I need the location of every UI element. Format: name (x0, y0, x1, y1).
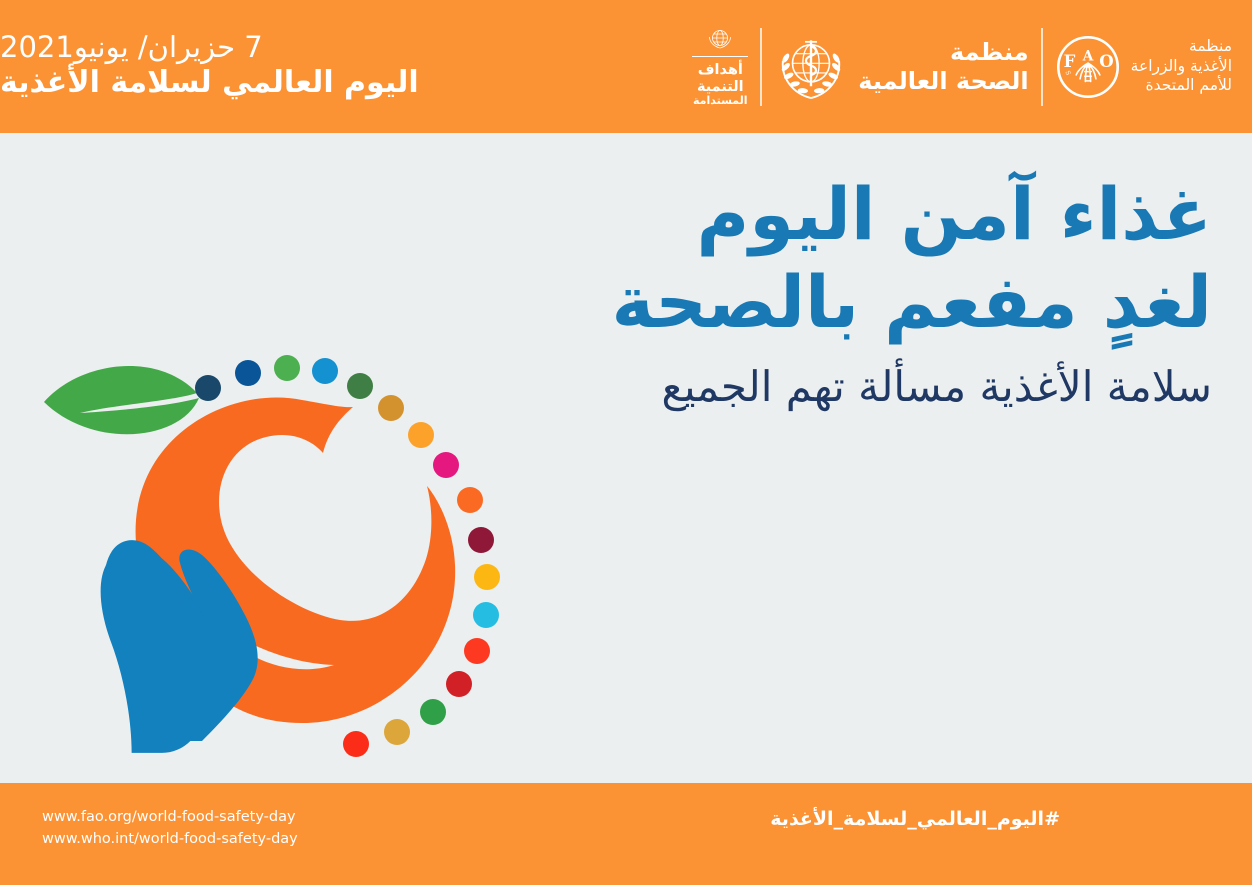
who-text-line2: الصحة العالمية (858, 67, 1028, 96)
fao-logo-text: منظمة الأغذية والزراعة للأمم المتحدة (1131, 37, 1232, 96)
fao-website-link[interactable]: www.fao.org/world-food-safety-day (42, 807, 298, 829)
sdg-text-line2: التنمية (693, 79, 748, 95)
poster-canvas: 7 حزيران/ يونيو2021 اليوم العالمي لسلامة… (0, 0, 1252, 885)
sdg-dot (468, 527, 494, 553)
headline-line-2: لغدٍ مفعم بالصحة (512, 259, 1212, 347)
header-bar: 7 حزيران/ يونيو2021 اليوم العالمي لسلامة… (0, 0, 1252, 133)
sdg-dot (312, 358, 338, 384)
svg-text:O: O (1099, 52, 1113, 71)
fao-text-line1: منظمة (1131, 37, 1232, 57)
sdg-dot (195, 375, 221, 401)
sdg-dot (433, 452, 459, 478)
header-left-text: 7 حزيران/ يونيو2021 اليوم العالمي لسلامة… (0, 0, 440, 133)
event-title: اليوم العالمي لسلامة الأغذية (0, 64, 419, 102)
sdg-dot (457, 487, 483, 513)
sdg-dot (464, 638, 490, 664)
subheadline: سلامة الأغذية مسألة تهم الجميع (512, 361, 1212, 414)
who-logo: منظمة الصحة العالمية (762, 19, 1040, 115)
svg-text:F: F (1063, 52, 1075, 71)
sdg-logo: أهداف التنمية المستدامة (680, 19, 760, 115)
footer-links: www.fao.org/world-food-safety-day www.wh… (42, 807, 298, 851)
sdg-dot (274, 355, 300, 381)
logo-divider-1 (1041, 28, 1043, 106)
sdg-dot (384, 719, 410, 745)
sdg-dot (347, 373, 373, 399)
sdg-dot (474, 564, 500, 590)
who-website-link[interactable]: www.who.int/world-food-safety-day (42, 829, 298, 851)
who-logo-text: منظمة الصحة العالمية (858, 38, 1028, 96)
fao-text-line3: للأمم المتحدة (1131, 76, 1232, 96)
footer-bar: www.fao.org/world-food-safety-day www.wh… (0, 783, 1252, 885)
world-food-safety-day-emblem (40, 345, 520, 760)
fao-logo: منظمة الأغذية والزراعة للأمم المتحدة F A… (1043, 19, 1244, 115)
sdg-dot (343, 731, 369, 757)
sdg-dot (408, 422, 434, 448)
header-logo-group: منظمة الأغذية والزراعة للأمم المتحدة F A… (680, 0, 1244, 133)
leaf-icon (44, 366, 199, 434)
sdg-text-line1: أهداف (693, 62, 748, 78)
fao-emblem-icon: F A O FIAT PANIS (1055, 34, 1121, 100)
headline-line-1: غذاء آمن اليوم (512, 171, 1212, 259)
sdg-text-line3: المستدامة (693, 95, 748, 107)
sdg-dot (420, 699, 446, 725)
sdg-divider-rule (692, 56, 748, 58)
sdg-dot (473, 602, 499, 628)
event-date: 7 حزيران/ يونيو2021 (0, 32, 263, 62)
logo-divider-2 (760, 28, 762, 106)
sdg-dot (446, 671, 472, 697)
sdg-dot (378, 395, 404, 421)
fao-text-line2: الأغذية والزراعة (1131, 57, 1232, 77)
campaign-hashtag: #اليوم_العالمي_لسلامة_الأغذية (770, 808, 1060, 830)
main-content: غذاء آمن اليوم لغدٍ مفعم بالصحة سلامة ال… (0, 133, 1252, 783)
who-emblem-icon (774, 30, 848, 104)
svg-text:A: A (1081, 48, 1093, 64)
sdg-dot (235, 360, 261, 386)
un-emblem-icon (705, 26, 735, 52)
headline-block: غذاء آمن اليوم لغدٍ مفعم بالصحة سلامة ال… (512, 171, 1212, 413)
who-text-line1: منظمة (858, 38, 1028, 67)
